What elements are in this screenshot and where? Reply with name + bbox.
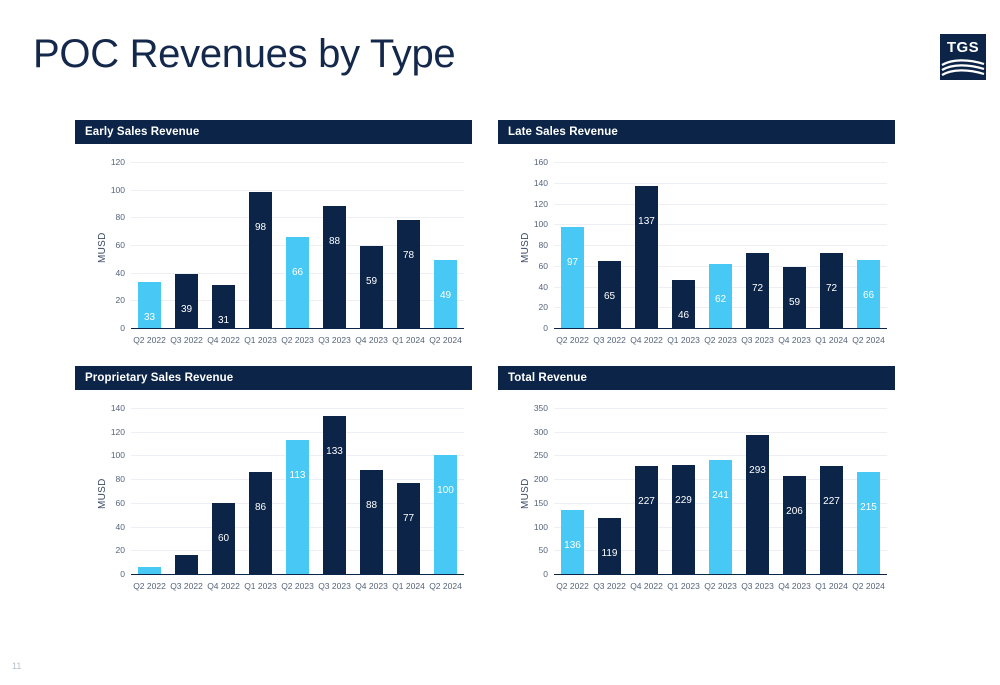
bar-chart: MUSD020406080100120140160976513746627259… — [498, 144, 895, 358]
y-axis-tick-label: 20 — [539, 302, 548, 312]
x-axis-tick-label: Q2 2022 — [131, 335, 168, 345]
bar[interactable]: 72 — [820, 253, 843, 328]
y-axis-title: MUSD — [97, 232, 108, 263]
bar-slot: 78 — [390, 162, 427, 328]
bar[interactable]: 49 — [434, 260, 457, 328]
bar-value-label: 31 — [212, 315, 235, 326]
y-axis-tick-label: 80 — [116, 212, 125, 222]
chart-panel-title: Early Sales Revenue — [75, 120, 472, 144]
y-axis-tick-label: 80 — [539, 240, 548, 250]
y-axis-tick-label: 120 — [111, 427, 125, 437]
bar-value-label: 49 — [434, 290, 457, 301]
bar-slot: 39 — [168, 162, 205, 328]
bar-slot: 59 — [776, 162, 813, 328]
bar[interactable]: 229 — [672, 465, 695, 574]
bar-slot: 16 — [168, 408, 205, 574]
bar[interactable]: 31 — [212, 285, 235, 328]
gridline — [554, 328, 887, 329]
y-axis-tick-label: 200 — [534, 474, 548, 484]
x-axis-tick-label: Q1 2024 — [390, 581, 427, 591]
page-number: 11 — [12, 661, 21, 671]
bar-value-label: 119 — [598, 548, 621, 559]
bar-slot: 293 — [739, 408, 776, 574]
bar[interactable]: 206 — [783, 476, 806, 574]
y-axis-tick-label: 100 — [111, 185, 125, 195]
x-axis-labels: Q2 2022Q3 2022Q4 2022Q1 2023Q2 2023Q3 20… — [131, 581, 464, 591]
bar-value-label: 59 — [783, 297, 806, 308]
chart-panel: Proprietary Sales RevenueMUSD02040608010… — [75, 366, 472, 604]
bar-slot: 98 — [242, 162, 279, 328]
x-axis-tick-label: Q1 2023 — [665, 335, 702, 345]
x-axis-tick-label: Q2 2023 — [279, 335, 316, 345]
bar-slot: 133 — [316, 408, 353, 574]
y-axis-tick-label: 0 — [120, 569, 125, 579]
y-axis-title: MUSD — [520, 232, 531, 263]
plot-area: 0204060801001201401660861131338877100 — [131, 408, 464, 575]
y-axis-tick-label: 150 — [534, 498, 548, 508]
chart-body: MUSD020406080100120333931986688597849Q2 … — [75, 144, 472, 358]
bar-slot: 88 — [316, 162, 353, 328]
y-axis-tick-label: 60 — [116, 240, 125, 250]
bar-value-label: 100 — [434, 485, 457, 496]
plot-area: 0501001502002503003501361192272292412932… — [554, 408, 887, 575]
y-axis-title: MUSD — [97, 478, 108, 509]
x-axis-tick-label: Q2 2024 — [427, 335, 464, 345]
bar-slot: 66 — [850, 162, 887, 328]
y-axis-tick-label: 0 — [120, 323, 125, 333]
x-axis-tick-label: Q2 2024 — [427, 581, 464, 591]
bar-slot: 227 — [628, 408, 665, 574]
chart-panel: Early Sales RevenueMUSD02040608010012033… — [75, 120, 472, 358]
bar-value-label: 66 — [286, 267, 309, 278]
bars-container: 9765137466272597266 — [554, 162, 887, 328]
bar-slot: 137 — [628, 162, 665, 328]
bar[interactable]: 65 — [598, 261, 621, 328]
bar-value-label: 88 — [323, 236, 346, 247]
chart-body: MUSD020406080100120140160976513746627259… — [498, 144, 895, 358]
bar-slot: 119 — [591, 408, 628, 574]
x-axis-tick-label: Q3 2022 — [591, 581, 628, 591]
bar-slot: 206 — [776, 408, 813, 574]
x-axis-tick-label: Q3 2023 — [316, 335, 353, 345]
bar-value-label: 65 — [598, 291, 621, 302]
bar-chart: MUSD050100150200250300350136119227229241… — [498, 390, 895, 604]
bar-slot: 241 — [702, 408, 739, 574]
logo-box: TGS — [940, 34, 986, 80]
bar-value-label: 229 — [672, 495, 695, 506]
y-axis-tick-label: 300 — [534, 427, 548, 437]
gridline — [131, 574, 464, 575]
plot-area: 0204060801001201401609765137466272597266 — [554, 162, 887, 329]
tgs-logo: TGS — [940, 34, 986, 80]
y-axis-tick-label: 140 — [111, 403, 125, 413]
y-axis-tick-label: 40 — [539, 282, 548, 292]
bar[interactable]: 227 — [635, 466, 658, 574]
bar[interactable]: 227 — [820, 466, 843, 574]
y-axis-tick-label: 100 — [111, 450, 125, 460]
chart-panel-title: Total Revenue — [498, 366, 895, 390]
bar-slot: 86 — [242, 408, 279, 574]
x-axis-tick-label: Q4 2023 — [776, 335, 813, 345]
x-axis-tick-label: Q3 2022 — [168, 335, 205, 345]
bar-value-label: 137 — [635, 216, 658, 227]
bar[interactable]: 77 — [397, 483, 420, 574]
y-axis-tick-label: 50 — [539, 545, 548, 555]
bar-value-label: 88 — [360, 500, 383, 511]
bar-value-label: 59 — [360, 276, 383, 287]
chart-panel: Total RevenueMUSD05010015020025030035013… — [498, 366, 895, 604]
y-axis-tick-label: 40 — [116, 522, 125, 532]
bar-value-label: 133 — [323, 446, 346, 457]
x-axis-tick-label: Q1 2023 — [665, 581, 702, 591]
bar-slot: 46 — [665, 162, 702, 328]
bar[interactable]: 33 — [138, 282, 161, 328]
bar[interactable]: 100 — [434, 455, 457, 574]
bar-slot: 227 — [813, 408, 850, 574]
bar[interactable]: 137 — [635, 186, 658, 328]
chart-body: MUSD050100150200250300350136119227229241… — [498, 390, 895, 604]
y-axis-tick-label: 350 — [534, 403, 548, 413]
bar[interactable]: 16 — [175, 555, 198, 574]
bar-value-label: 227 — [635, 496, 658, 507]
bar-slot: 113 — [279, 408, 316, 574]
bar[interactable]: 133 — [323, 416, 346, 574]
y-axis-tick-label: 0 — [543, 323, 548, 333]
bar[interactable]: 72 — [746, 253, 769, 328]
x-axis-tick-label: Q2 2024 — [850, 335, 887, 345]
x-axis-tick-label: Q1 2023 — [242, 581, 279, 591]
chart-body: MUSD020406080100120140166086113133887710… — [75, 390, 472, 604]
bar[interactable]: 88 — [323, 206, 346, 328]
bar-slot: 31 — [205, 162, 242, 328]
x-axis-tick-label: Q2 2022 — [554, 335, 591, 345]
bar-slot: 88 — [353, 408, 390, 574]
x-axis-tick-label: Q3 2023 — [316, 581, 353, 591]
bar[interactable]: 66 — [286, 237, 309, 328]
x-axis-labels: Q2 2022Q3 2022Q4 2022Q1 2023Q2 2023Q3 20… — [131, 335, 464, 345]
x-axis-labels: Q2 2022Q3 2022Q4 2022Q1 2023Q2 2023Q3 20… — [554, 581, 887, 591]
bar[interactable]: 60 — [212, 503, 235, 574]
bar[interactable]: 293 — [746, 435, 769, 574]
logo-waves-icon — [940, 57, 986, 77]
bar-slot: 136 — [554, 408, 591, 574]
bar-slot: 60 — [205, 408, 242, 574]
bar[interactable]: 215 — [857, 472, 880, 574]
bar[interactable] — [138, 567, 161, 574]
x-axis-tick-label: Q1 2024 — [813, 581, 850, 591]
bar[interactable]: 59 — [360, 246, 383, 328]
gridline — [554, 574, 887, 575]
chart-panel-title: Proprietary Sales Revenue — [75, 366, 472, 390]
bar-value-label: 72 — [820, 283, 843, 294]
y-axis-tick-label: 80 — [116, 474, 125, 484]
y-axis-tick-label: 60 — [116, 498, 125, 508]
x-axis-tick-label: Q4 2023 — [353, 335, 390, 345]
x-axis-tick-label: Q3 2023 — [739, 335, 776, 345]
x-axis-tick-label: Q1 2023 — [242, 335, 279, 345]
chart-panel-title: Late Sales Revenue — [498, 120, 895, 144]
y-axis-tick-label: 100 — [534, 219, 548, 229]
x-axis-tick-label: Q4 2022 — [205, 581, 242, 591]
chart-panel: Late Sales RevenueMUSD020406080100120140… — [498, 120, 895, 358]
y-axis-tick-label: 60 — [539, 261, 548, 271]
x-axis-tick-label: Q2 2022 — [131, 581, 168, 591]
bar[interactable]: 97 — [561, 227, 584, 328]
plot-area: 020406080100120333931986688597849 — [131, 162, 464, 329]
y-axis-tick-label: 0 — [543, 569, 548, 579]
bar-value-label: 293 — [746, 465, 769, 476]
y-axis-tick-label: 160 — [534, 157, 548, 167]
bar-value-label: 62 — [709, 294, 732, 305]
bar[interactable]: 88 — [360, 470, 383, 574]
bar-slot: 66 — [279, 162, 316, 328]
x-axis-tick-label: Q2 2023 — [702, 335, 739, 345]
bar-slot: 62 — [702, 162, 739, 328]
bar-value-label: 206 — [783, 506, 806, 517]
bar-chart: MUSD020406080100120333931986688597849Q2 … — [75, 144, 472, 358]
bar-slot: 65 — [591, 162, 628, 328]
bar[interactable]: 78 — [397, 220, 420, 328]
x-axis-tick-label: Q2 2023 — [702, 581, 739, 591]
bar[interactable]: 39 — [175, 274, 198, 328]
gridline — [131, 328, 464, 329]
bar-value-label: 72 — [746, 283, 769, 294]
y-axis-tick-label: 140 — [534, 178, 548, 188]
x-axis-tick-label: Q3 2022 — [591, 335, 628, 345]
bar[interactable]: 86 — [249, 472, 272, 574]
y-axis-title: MUSD — [520, 478, 531, 509]
x-axis-tick-label: Q4 2022 — [205, 335, 242, 345]
bar-value-label: 98 — [249, 222, 272, 233]
bar-slot: 229 — [665, 408, 702, 574]
bar-value-label: 78 — [397, 250, 420, 261]
bar-slot: 72 — [739, 162, 776, 328]
bar-value-label: 215 — [857, 502, 880, 513]
x-axis-tick-label: Q2 2023 — [279, 581, 316, 591]
bar-value-label: 60 — [212, 533, 235, 544]
bar-slot — [131, 408, 168, 574]
x-axis-tick-label: Q2 2022 — [554, 581, 591, 591]
page-title: POC Revenues by Type — [33, 32, 455, 77]
x-axis-tick-label: Q4 2023 — [353, 581, 390, 591]
bar-value-label: 113 — [286, 470, 309, 481]
bar-value-label: 39 — [175, 304, 198, 315]
x-axis-tick-label: Q1 2024 — [813, 335, 850, 345]
x-axis-tick-label: Q4 2023 — [776, 581, 813, 591]
y-axis-tick-label: 120 — [534, 199, 548, 209]
bar[interactable]: 113 — [286, 440, 309, 574]
bars-container: 1660861131338877100 — [131, 408, 464, 574]
bar-slot: 59 — [353, 162, 390, 328]
y-axis-tick-label: 250 — [534, 450, 548, 460]
bar-slot: 49 — [427, 162, 464, 328]
bar-value-label: 66 — [857, 290, 880, 301]
bar-slot: 33 — [131, 162, 168, 328]
x-axis-labels: Q2 2022Q3 2022Q4 2022Q1 2023Q2 2023Q3 20… — [554, 335, 887, 345]
y-axis-tick-label: 100 — [534, 522, 548, 532]
x-axis-tick-label: Q3 2023 — [739, 581, 776, 591]
bar[interactable]: 46 — [672, 280, 695, 328]
bar-chart: MUSD020406080100120140166086113133887710… — [75, 390, 472, 604]
bar-value-label: 227 — [820, 496, 843, 507]
bar[interactable]: 119 — [598, 518, 621, 574]
bar[interactable]: 66 — [857, 260, 880, 328]
x-axis-tick-label: Q4 2022 — [628, 335, 665, 345]
bars-container: 333931986688597849 — [131, 162, 464, 328]
x-axis-tick-label: Q4 2022 — [628, 581, 665, 591]
bar[interactable]: 136 — [561, 510, 584, 575]
bar-slot: 100 — [427, 408, 464, 574]
bar[interactable]: 98 — [249, 192, 272, 328]
bar-slot: 72 — [813, 162, 850, 328]
y-axis-tick-label: 20 — [116, 295, 125, 305]
bar-value-label: 33 — [138, 312, 161, 323]
y-axis-tick-label: 40 — [116, 268, 125, 278]
x-axis-tick-label: Q3 2022 — [168, 581, 205, 591]
x-axis-tick-label: Q1 2024 — [390, 335, 427, 345]
bar[interactable]: 62 — [709, 264, 732, 328]
y-axis-tick-label: 20 — [116, 545, 125, 555]
bar-value-label: 77 — [397, 513, 420, 524]
bar[interactable]: 59 — [783, 267, 806, 328]
bar-slot: 97 — [554, 162, 591, 328]
bar-value-label: 241 — [709, 490, 732, 501]
bars-container: 136119227229241293206227215 — [554, 408, 887, 574]
bar-value-label: 86 — [249, 502, 272, 513]
bar[interactable]: 241 — [709, 460, 732, 574]
bar-value-label: 136 — [561, 540, 584, 551]
logo-wordmark: TGS — [940, 39, 986, 56]
y-axis-tick-label: 120 — [111, 157, 125, 167]
bar-value-label: 46 — [672, 310, 695, 321]
bar-slot: 77 — [390, 408, 427, 574]
x-axis-tick-label: Q2 2024 — [850, 581, 887, 591]
bar-value-label: 97 — [561, 257, 584, 268]
bar-slot: 215 — [850, 408, 887, 574]
